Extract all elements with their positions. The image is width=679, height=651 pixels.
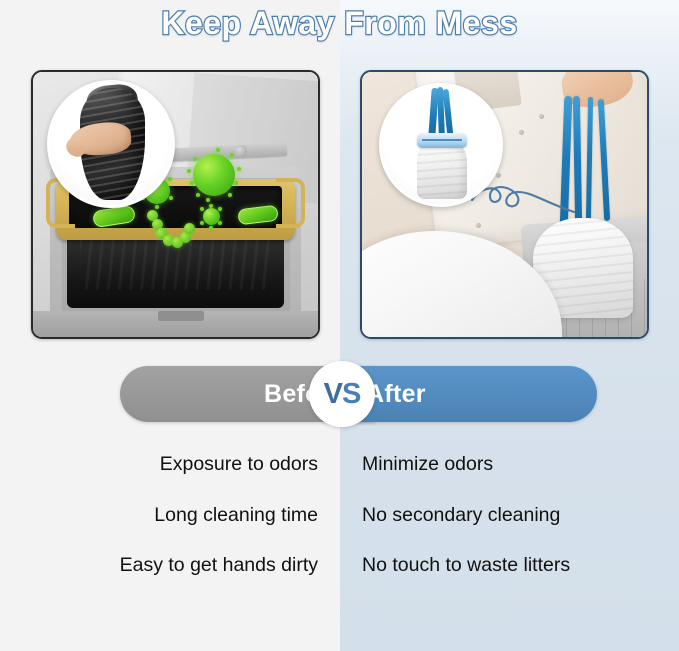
list-item: No touch to waste litters	[362, 556, 570, 607]
bin-pedal	[158, 311, 204, 322]
after-benefits-list: Minimize odors No secondary cleaning No …	[362, 455, 672, 607]
before-photo-panel	[31, 70, 320, 339]
retainer-handle-right	[276, 178, 306, 228]
vs-letter-v: V	[324, 378, 342, 410]
vs-label: VS	[324, 378, 361, 411]
page-title-container: Keep Away From Mess	[0, 2, 679, 44]
before-benefits-list: Exposure to odors Long cleaning time Eas…	[0, 455, 318, 607]
before-after-comparison-bar: Before After VS	[0, 366, 679, 422]
page-title: Keep Away From Mess	[161, 5, 517, 42]
after-photo-panel	[360, 70, 649, 339]
vs-letter-s: S	[342, 378, 360, 410]
list-item: Minimize odors	[362, 455, 493, 506]
vs-badge: VS	[309, 361, 375, 427]
list-item: Exposure to odors	[160, 455, 318, 506]
list-item: No secondary cleaning	[362, 506, 560, 557]
list-item: Easy to get hands dirty	[120, 556, 318, 607]
after-inset-circle	[379, 83, 503, 207]
germ-virus-small-icon	[203, 208, 220, 225]
list-item: Long cleaning time	[154, 506, 318, 557]
germ-virus-large-icon	[193, 154, 235, 196]
germ-bacteria-chain-icon	[147, 210, 157, 220]
before-inset-circle	[47, 80, 175, 208]
drawstring-tie-line	[422, 139, 462, 141]
